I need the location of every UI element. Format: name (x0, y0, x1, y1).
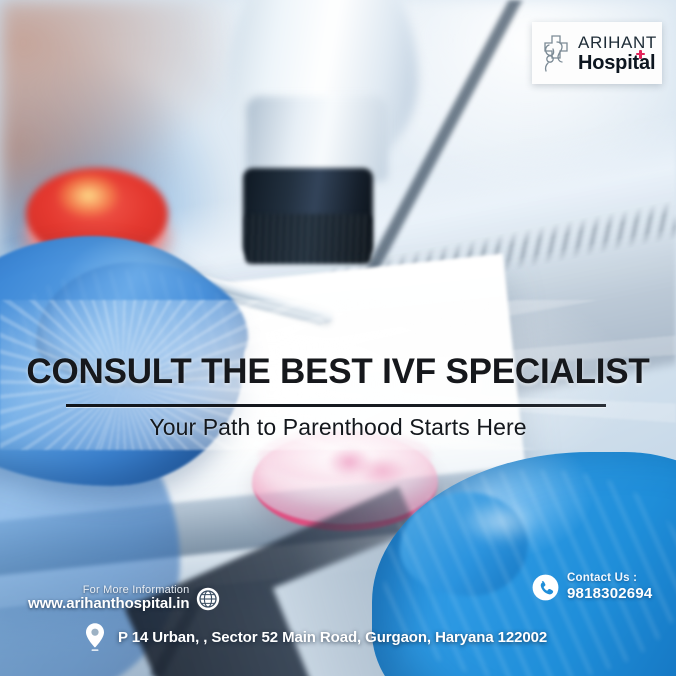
red-cross-icon (636, 50, 645, 59)
brand-logo[interactable]: ARIHANT Hospital (532, 22, 662, 84)
phone-icon (532, 574, 559, 601)
address-block[interactable]: P 14 Urban, , Sector 52 Main Road, Gurga… (84, 622, 547, 652)
globe-icon (196, 587, 220, 611)
contact-number[interactable]: 9818302694 (567, 585, 652, 602)
contact-block[interactable]: Contact Us : 9818302694 (532, 572, 652, 602)
page-title: CONSULT THE BEST IVF SPECIALIST (0, 352, 676, 392)
poster-canvas: ARIHANT Hospital CONSULT THE BEST IVF SP… (0, 0, 676, 676)
bottom-right-glove-highlight (452, 500, 548, 554)
logo-wordmark: ARIHANT Hospital (578, 34, 657, 73)
contact-text: Contact Us : 9818302694 (567, 572, 652, 602)
logo-name-top: ARIHANT (578, 34, 657, 51)
website-block[interactable]: For More Information www.arihanthospital… (28, 584, 220, 613)
map-pin-icon (84, 622, 106, 652)
title-divider (66, 404, 606, 407)
pink-petri-dish-specimen (326, 446, 404, 486)
contact-label: Contact Us : (567, 572, 652, 585)
website-url[interactable]: www.arihanthospital.in (28, 596, 189, 613)
address-text: P 14 Urban, , Sector 52 Main Road, Gurga… (118, 629, 547, 646)
logo-name-bottom: Hospital (578, 53, 657, 73)
microscope-focus-ring (245, 214, 371, 264)
website-text: For More Information www.arihanthospital… (28, 584, 189, 613)
hospital-cross-parent-child-icon (540, 33, 572, 73)
page-subtitle: Your Path to Parenthood Starts Here (0, 414, 676, 441)
